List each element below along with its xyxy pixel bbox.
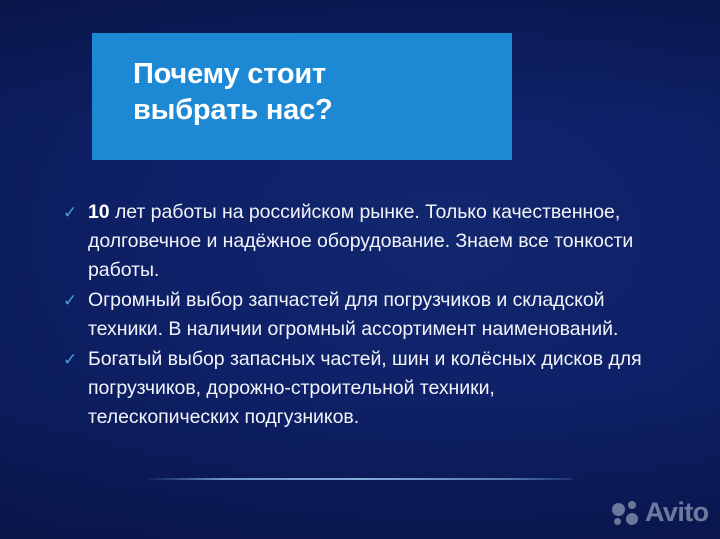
list-item-body: лет работы на российском рынке. Только к…	[88, 201, 633, 281]
check-icon: ✓	[62, 345, 88, 374]
slide-title: Почему стоит выбрать нас?	[133, 56, 333, 128]
list-item-lead: 10	[88, 201, 110, 223]
avito-logo-mark-icon	[612, 500, 642, 526]
divider-line	[148, 478, 572, 480]
check-icon: ✓	[62, 198, 88, 227]
benefits-list: ✓ 10 лет работы на российском рынке. Тол…	[62, 198, 682, 433]
list-item-text: Богатый выбор запасных частей, шин и кол…	[88, 345, 648, 432]
list-item: ✓ 10 лет работы на российском рынке. Тол…	[62, 198, 682, 285]
list-item: ✓ Богатый выбор запасных частей, шин и к…	[62, 345, 682, 432]
list-item-body: Огромный выбор запчастей для погрузчиков…	[88, 289, 618, 340]
list-item-body: Богатый выбор запасных частей, шин и кол…	[88, 348, 642, 428]
title-panel: Почему стоит выбрать нас?	[92, 33, 512, 160]
list-item-text: Огромный выбор запчастей для погрузчиков…	[88, 286, 648, 344]
check-icon: ✓	[62, 286, 88, 315]
avito-watermark: Avito	[612, 499, 709, 526]
list-item-text: 10 лет работы на российском рынке. Тольк…	[88, 198, 648, 285]
presentation-slide: Почему стоит выбрать нас? ✓ 10 лет работ…	[0, 0, 720, 539]
list-item: ✓ Огромный выбор запчастей для погрузчик…	[62, 286, 682, 344]
avito-wordmark: Avito	[645, 499, 709, 526]
